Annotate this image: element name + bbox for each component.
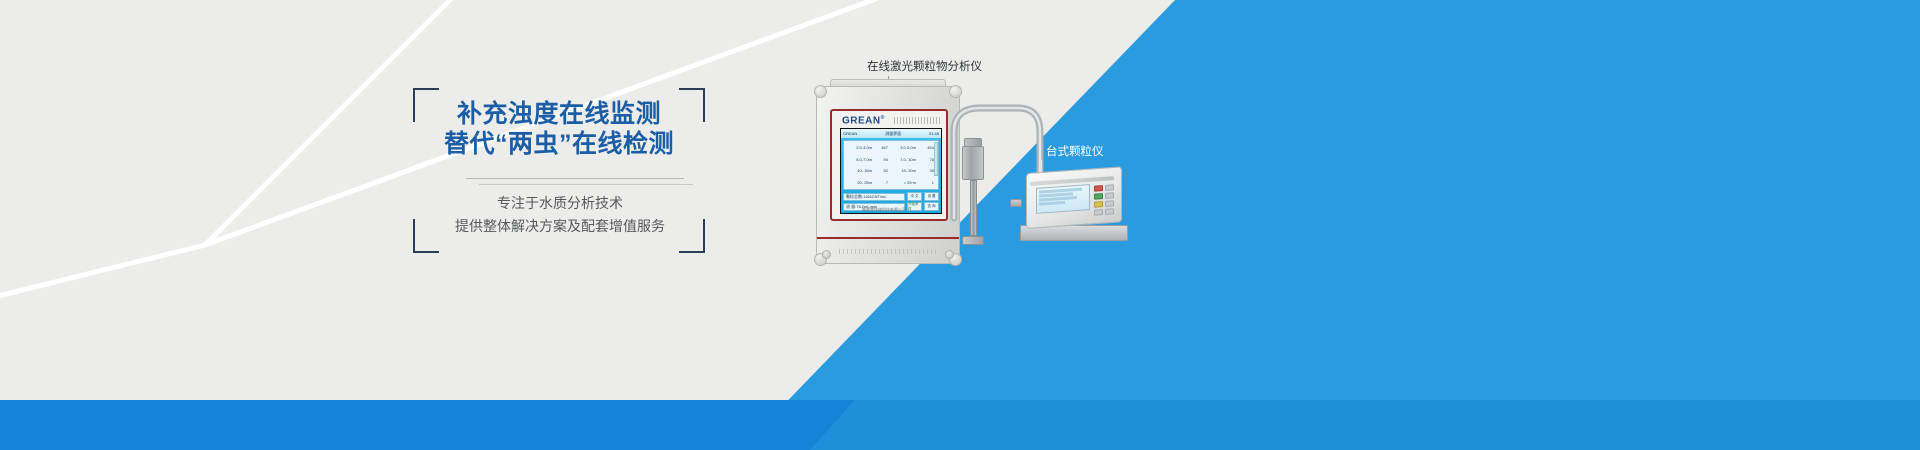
cell-size-range-1: 5.0-7.0m xyxy=(846,157,872,162)
lcd-scrollbar[interactable] xyxy=(934,142,938,176)
analyzer-bolt-right xyxy=(945,250,954,259)
analyzer-enclosure: GREAN® GREAN 测量界面 01:46 2.0-3.0m xyxy=(816,86,960,264)
subtitle-line-2: 提供整体解决方案及配套增值服务 xyxy=(407,215,713,238)
analyzer-bolt-left xyxy=(822,250,831,259)
lcd-start-sampling-button[interactable]: 开始采样 xyxy=(907,202,922,211)
analyzer-knob-top-left xyxy=(814,85,827,98)
lcd-language-button[interactable]: 中 文 xyxy=(907,192,922,201)
cell-count-2: 35 xyxy=(916,168,934,173)
brand-name: GREAN xyxy=(842,115,881,126)
keypad-key-4[interactable] xyxy=(1094,209,1103,216)
analyzer-vent-slots xyxy=(839,249,939,254)
lcd-title-left: GREAN xyxy=(843,131,857,136)
cell-count-2: 1 xyxy=(916,180,934,185)
blue-bottom-band xyxy=(0,400,855,450)
lcd-titlebar: GREAN 测量界面 01:46 xyxy=(841,129,941,138)
lcd-inner: GREAN 测量界面 01:46 2.0-3.0m 467 3.0-5.0m 4… xyxy=(841,129,941,213)
lcd-settings-button[interactable]: 设 置 xyxy=(924,192,939,201)
keypad-key-1[interactable] xyxy=(1105,184,1114,191)
analyzer-hatch-decor xyxy=(894,117,940,124)
page-title: 补充浊度在线监测 替代“两虫”在线检测 xyxy=(395,99,723,159)
readout-total-count: 颗粒总数:1166CNT/mL xyxy=(843,193,905,201)
keypad-key-2[interactable] xyxy=(1105,192,1114,199)
headline-block: 补充浊度在线监测 替代“两虫”在线检测 专注于水质分析技术 提供整体解决方案及配… xyxy=(413,88,705,253)
brand-logo: GREAN® xyxy=(842,115,885,126)
benchtop-display[interactable] xyxy=(1036,184,1090,214)
lcd-title-center: 测量界面 xyxy=(885,131,901,137)
keypad-key-3[interactable] xyxy=(1105,200,1114,207)
subtitle-block: 专注于水质分析技术 提供整体解决方案及配套增值服务 xyxy=(407,192,713,238)
headline-line-2: 替代“两虫”在线检测 xyxy=(395,129,723,159)
keypad-key-5[interactable] xyxy=(1105,208,1114,215)
benchtop-inlet-port xyxy=(1010,199,1022,207)
online-laser-particle-analyzer: GREAN® GREAN 测量界面 01:46 2.0-3.0m xyxy=(816,86,960,264)
lcd-query-button[interactable]: 查 询 xyxy=(924,202,939,211)
benchtop-keypad[interactable] xyxy=(1094,184,1114,215)
cell-size-range-2: 3.0-5.0m xyxy=(888,145,916,150)
keypad-key-green[interactable] xyxy=(1094,193,1103,200)
lcd-readout-row: 颗粒总数:1166CNT/mL 中 文 设 置 xyxy=(843,192,939,201)
cell-count-1: 94 xyxy=(872,157,888,162)
subtitle-line-1: 专注于水质分析技术 xyxy=(407,192,713,215)
callout-label-benchtop: 台式颗粒仪 xyxy=(1046,145,1104,159)
benchtop-display-rows xyxy=(1039,187,1087,210)
blue-bottom-band-right xyxy=(810,400,1920,450)
divider-line-2 xyxy=(479,184,693,185)
table-row: 20- 25m 7 > 25 m 1 xyxy=(846,177,936,189)
lcd-title-right: 01:46 xyxy=(929,131,939,136)
cell-size-range-1: 20- 25m xyxy=(846,180,872,185)
analyzer-stem-foot xyxy=(962,236,984,245)
benchtop-particle-counter xyxy=(1020,173,1128,241)
table-row: 5.0-7.0m 94 7.0- 10m 76 xyxy=(846,154,936,166)
display-row xyxy=(1039,201,1065,206)
analyzer-front-panel: GREAN® GREAN 测量界面 01:46 2.0-3.0m xyxy=(830,109,948,221)
lcd-data-table: 2.0-3.0m 467 3.0-5.0m 454 5.0-7.0m 94 7.… xyxy=(843,140,939,190)
cell-size-range-2: 7.0- 10m xyxy=(888,157,916,162)
headline-line-1: 补充浊度在线监测 xyxy=(395,99,723,129)
callout-label-analyzer: 在线激光颗粒物分析仪 xyxy=(867,60,982,74)
analyzer-red-accent-line xyxy=(817,237,959,239)
cell-size-range-2: > 25 m xyxy=(888,180,916,185)
table-row: 2.0-3.0m 467 3.0-5.0m 454 xyxy=(846,142,936,154)
analyzer-lcd-screen[interactable]: GREAN 测量界面 01:46 2.0-3.0m 467 3.0-5.0m 4… xyxy=(840,128,942,214)
divider-line-1 xyxy=(466,178,684,179)
table-row: 10- 15m 52 15- 20m 35 xyxy=(846,165,936,177)
keypad-key-yellow[interactable] xyxy=(1094,201,1103,208)
cell-size-range-2: 15- 20m xyxy=(888,168,916,173)
cell-count-1: 7 xyxy=(872,180,888,185)
cell-count-1: 467 xyxy=(872,145,888,150)
cell-count-2: 76 xyxy=(916,157,934,162)
cell-count-1: 52 xyxy=(872,168,888,173)
analyzer-company-footer: 格林零排放科技有限公司 xyxy=(862,207,906,213)
cell-size-range-1: 2.0-3.0m xyxy=(846,145,872,150)
promo-banner: 补充浊度在线监测 替代“两虫”在线检测 专注于水质分析技术 提供整体解决方案及配… xyxy=(0,0,1920,450)
cell-size-range-1: 10- 15m xyxy=(846,168,872,173)
brand-registered-mark: ® xyxy=(881,115,885,121)
cell-count-2: 454 xyxy=(916,145,934,150)
keypad-key-red[interactable] xyxy=(1094,185,1103,192)
